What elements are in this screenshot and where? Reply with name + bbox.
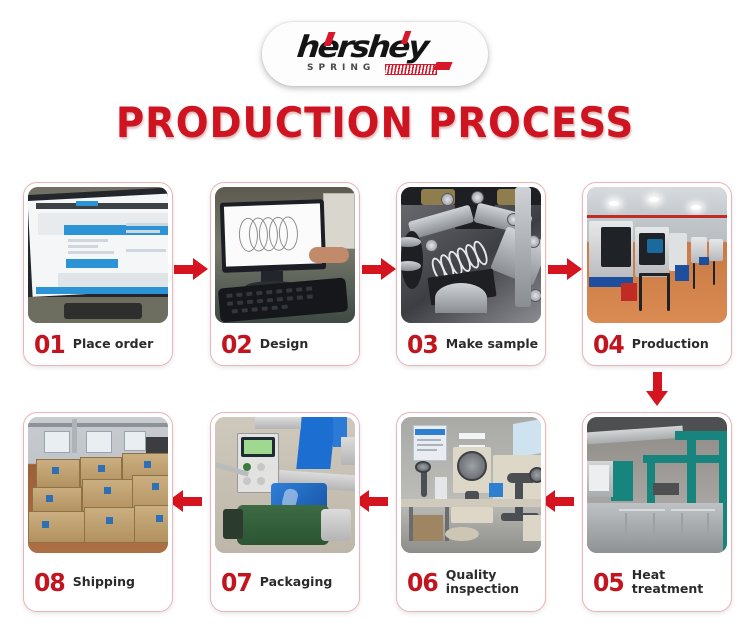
photo-shipping: [28, 417, 168, 553]
step-caption-07: Packaging: [260, 575, 333, 589]
step-number-05: 05: [593, 570, 624, 595]
step-number-01: 01: [34, 332, 65, 357]
photo-packaging: [215, 417, 355, 553]
step-number-06: 06: [407, 570, 438, 595]
brand-logo: hershey SPRING: [262, 22, 488, 86]
photo-production: [587, 187, 727, 323]
step-caption-05: Heat treatment: [632, 568, 725, 596]
step-label-04: 04 Production: [583, 323, 731, 365]
step-caption-04: Production: [632, 337, 709, 351]
step-number-07: 07: [221, 570, 252, 595]
logo-artwork: hershey SPRING: [285, 31, 465, 77]
page-title: PRODUCTION PROCESS: [30, 98, 720, 147]
arrow-02-to-03-icon: [362, 258, 396, 280]
step-card-01: 01 Place order: [23, 182, 173, 366]
step-label-01: 01 Place order: [24, 323, 172, 365]
step-number-02: 02: [221, 332, 252, 357]
step-card-08: 08 Shipping: [23, 412, 173, 612]
spring-coil-icon: [385, 64, 437, 75]
step-label-03: 03 Make sample: [397, 323, 545, 365]
logo-tail-icon: [433, 62, 452, 70]
arrow-04-to-05-icon: [646, 372, 668, 406]
step-number-03: 03: [407, 332, 438, 357]
logo-subtext: SPRING: [307, 63, 375, 73]
step-caption-08: Shipping: [73, 575, 135, 589]
step-caption-01: Place order: [73, 337, 153, 351]
step-caption-02: Design: [260, 337, 308, 351]
arrow-01-to-02-icon: [174, 258, 208, 280]
step-number-04: 04: [593, 332, 624, 357]
step-card-04: 04 Production: [582, 182, 732, 366]
photo-place-order: [28, 187, 168, 323]
arrow-03-to-04-icon: [548, 258, 582, 280]
step-label-02: 02 Design: [211, 323, 359, 365]
photo-quality-inspection: [401, 417, 541, 553]
step-card-05: 05 Heat treatment: [582, 412, 732, 612]
photo-heat-treatment: [587, 417, 727, 553]
arrow-07-to-08-icon: [168, 490, 202, 512]
step-card-07: 07 Packaging: [210, 412, 360, 612]
step-card-06: 06 Quality inspection: [396, 412, 546, 612]
step-label-08: 08 Shipping: [24, 553, 172, 611]
step-caption-03: Make sample: [446, 337, 538, 351]
step-card-02: 02 Design: [210, 182, 360, 366]
step-label-05: 05 Heat treatment: [583, 553, 731, 611]
photo-design: [215, 187, 355, 323]
step-label-07: 07 Packaging: [211, 553, 359, 611]
step-caption-06: Quality inspection: [446, 568, 539, 596]
photo-make-sample: [401, 187, 541, 323]
step-card-03: 03 Make sample: [396, 182, 546, 366]
step-number-08: 08: [34, 570, 65, 595]
production-process-infographic: hershey SPRING PRODUCTION PROCESS: [0, 0, 750, 624]
step-label-06: 06 Quality inspection: [397, 553, 545, 611]
